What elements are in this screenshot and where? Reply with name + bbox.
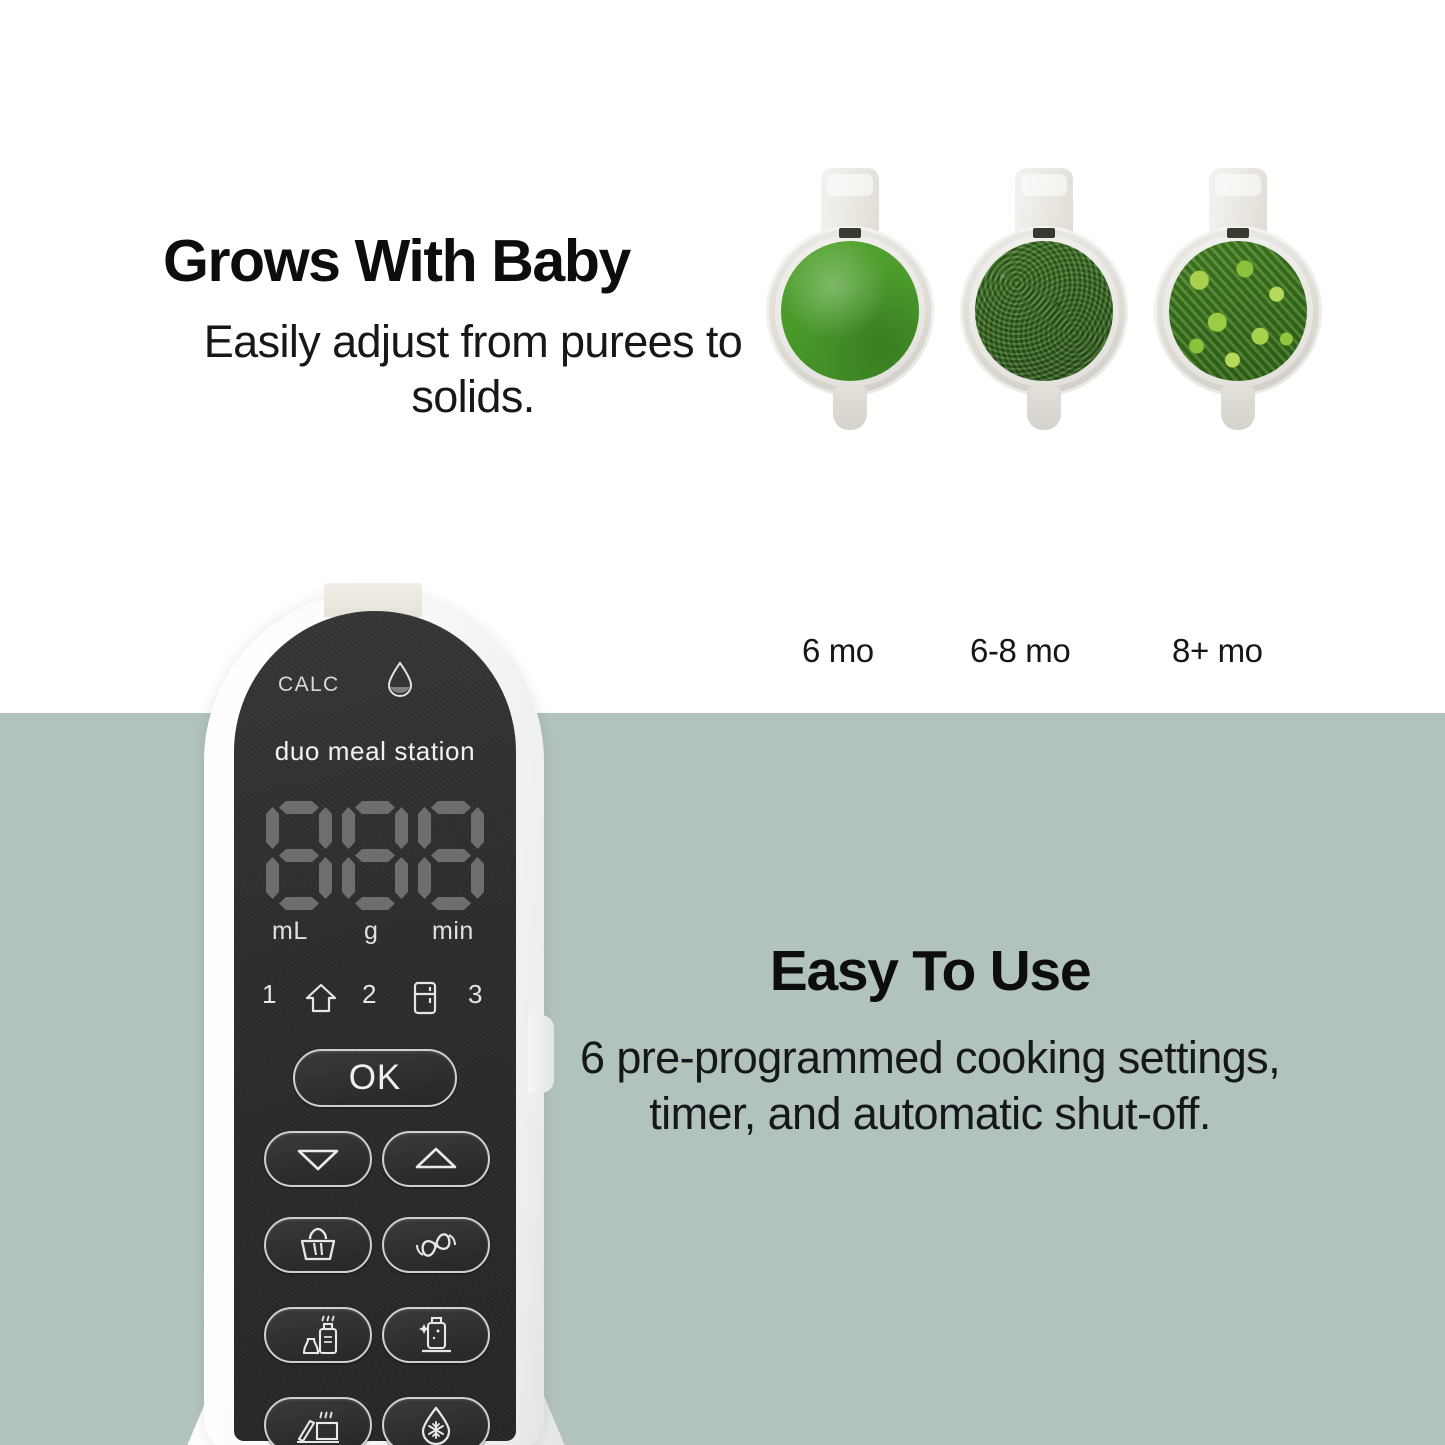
- device-brand-label: duo meal station: [234, 736, 516, 767]
- device-control-panel: CALC duo meal station: [234, 611, 516, 1441]
- sterilize-button[interactable]: [382, 1307, 490, 1363]
- lcd-unit-labels: mL g min: [260, 917, 490, 951]
- device-side-nub: [528, 1015, 554, 1093]
- unit-label-ml: mL: [272, 917, 308, 946]
- unit-label-g: g: [364, 917, 378, 946]
- mode-number-3: 3: [468, 979, 482, 1010]
- food-contents-chunky: [1169, 241, 1307, 381]
- food-contents-mash: [975, 241, 1113, 381]
- bowl-body: [960, 226, 1128, 396]
- grows-with-baby-text-block: Grows With Baby Easily adjust from puree…: [163, 232, 783, 425]
- lcd-digit: [342, 801, 408, 911]
- sterilize-bottle-icon: [413, 1315, 459, 1355]
- bowl-age-label: 8+ mo: [1172, 632, 1263, 670]
- bowl-age-labels: 6 mo 6-8 mo 8+ mo: [766, 632, 1326, 682]
- bowl-blade-tab-icon: [839, 228, 861, 238]
- bowl-spout-icon: [1221, 386, 1255, 430]
- bowl-blade-tab-icon: [1227, 228, 1249, 238]
- bottle-warm-icon: [290, 1315, 346, 1355]
- bottle-warmer-button[interactable]: [264, 1307, 372, 1363]
- grows-subtext: Easily adjust from purees to solids.: [193, 315, 753, 425]
- product-feature-page: Grows With Baby Easily adjust from puree…: [0, 0, 1445, 1445]
- lcd-display: [260, 801, 490, 911]
- increase-button[interactable]: [382, 1131, 490, 1187]
- bowl-item: [766, 168, 934, 458]
- page-title: Grows With Baby: [163, 232, 783, 291]
- defrost-button[interactable]: [382, 1397, 490, 1445]
- fridge-icon: [412, 981, 438, 1015]
- mode-number-2: 2: [362, 979, 376, 1010]
- chevron-up-icon: [413, 1146, 459, 1172]
- mode-number-1: 1: [262, 979, 276, 1010]
- reheat-button[interactable]: [264, 1397, 372, 1445]
- bowl-blade-tab-icon: [1033, 228, 1055, 238]
- calc-indicator-label: CALC: [278, 673, 340, 697]
- water-droplet-icon: [386, 661, 414, 697]
- chevron-down-icon: [295, 1146, 341, 1172]
- bowl-item: [1154, 168, 1322, 458]
- easy-to-use-subtext: 6 pre-programmed cooking settings, timer…: [580, 1030, 1280, 1143]
- easy-to-use-text-block: Easy To Use 6 pre-programmed cooking set…: [580, 938, 1280, 1143]
- mode-indicator-row: 1 2 3: [256, 979, 494, 1019]
- bowl-spout-icon: [1027, 386, 1061, 430]
- bowl-age-label: 6-8 mo: [970, 632, 1070, 670]
- decrease-button[interactable]: [264, 1131, 372, 1187]
- blend-button[interactable]: [382, 1217, 490, 1273]
- ok-button-label: OK: [349, 1058, 402, 1098]
- bowl-comparison-group: 6 mo 6-8 mo 8+ mo: [766, 168, 1326, 458]
- bowl-spout-icon: [833, 386, 867, 430]
- bowl-body: [1154, 226, 1322, 396]
- food-contents-puree: [781, 241, 919, 381]
- steam-pot-icon: [292, 1225, 344, 1265]
- bowl-age-label: 6 mo: [802, 632, 874, 670]
- unit-label-min: min: [432, 917, 474, 946]
- lcd-digit: [418, 801, 484, 911]
- steam-cook-button[interactable]: [264, 1217, 372, 1273]
- lcd-digit: [266, 801, 332, 911]
- defrost-snowflake-droplet-icon: [416, 1405, 456, 1445]
- ok-button[interactable]: OK: [293, 1049, 457, 1107]
- duo-meal-station-device: CALC duo meal station: [176, 583, 576, 1445]
- bowl-body: [766, 226, 934, 396]
- house-icon: [304, 981, 338, 1015]
- bowl-item: [960, 168, 1128, 458]
- reheat-food-icon: [290, 1405, 346, 1445]
- easy-to-use-title: Easy To Use: [580, 938, 1280, 1004]
- blend-swirl-icon: [413, 1225, 459, 1265]
